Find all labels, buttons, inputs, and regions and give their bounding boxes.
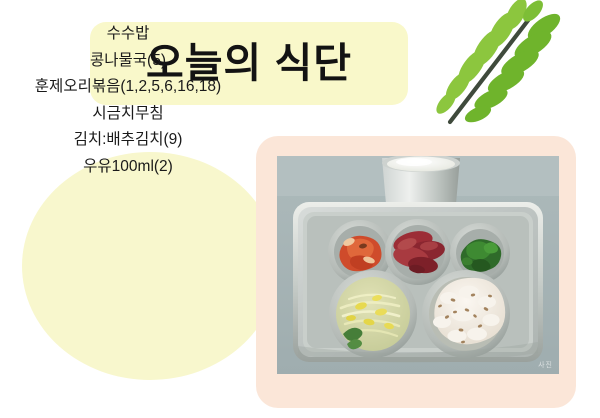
lunch-tray-photo: 사진 [277,156,559,374]
menu-item: 김치:배추김치(9) [0,127,270,154]
leaf-branch-icon [432,0,562,125]
menu-ellipse [22,152,278,380]
menu-item: 훈제오리볶음(1,2,5,6,16,18) [0,74,270,101]
menu-item: 우유100ml(2) [0,154,270,181]
menu-item: 수수밥 [0,21,270,48]
photo-frame: 사진 [256,136,576,408]
slide-canvas: 오늘의 식단 수수밥 콩나물국(5) 훈제오리볶음(1,2 [0,0,600,418]
menu-list: 수수밥 콩나물국(5) 훈제오리볶음(1,2,5,6,16,18) 시금치무침 … [0,21,270,180]
menu-item: 시금치무침 [0,101,270,128]
menu-item: 콩나물국(5) [0,48,270,75]
